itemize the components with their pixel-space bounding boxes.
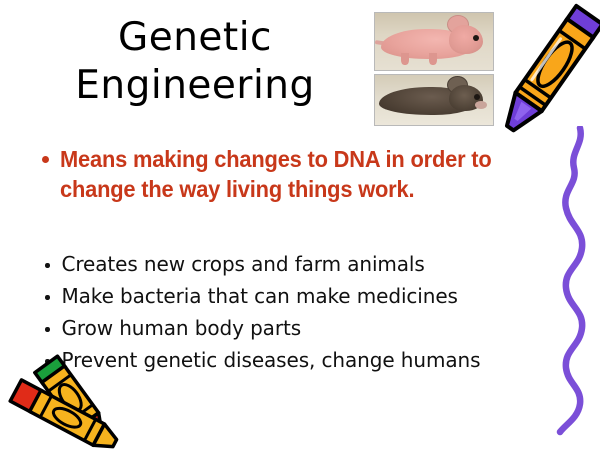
image-group-mice	[374, 12, 496, 126]
crayons-icon-bottom-left	[0, 352, 144, 450]
main-bullet-label: Means making changes to DNA in order to …	[60, 144, 527, 204]
bullet-dot-icon	[42, 156, 49, 163]
purple-squiggle-line	[540, 126, 600, 436]
page-title: Genetic Engineering	[30, 14, 360, 110]
bullet-dot-icon	[45, 263, 50, 268]
list-item-label: Grow human body parts	[62, 314, 302, 342]
bullet-dot-icon	[45, 295, 50, 300]
crayon-icon-top-right	[494, 0, 600, 146]
list-item: Creates new crops and farm animals	[45, 250, 545, 282]
main-bullet-item: Means making changes to DNA in order to …	[42, 144, 562, 204]
slide-canvas: Genetic Engineering Means making changes…	[0, 0, 600, 450]
dark-furry-mouse-photo	[374, 74, 494, 126]
hairless-pink-mouse-photo	[374, 12, 494, 71]
list-item-label: Creates new crops and farm animals	[62, 250, 425, 278]
bullet-dot-icon	[45, 327, 50, 332]
list-item: Grow human body parts	[45, 314, 545, 346]
list-item-label: Make bacteria that can make medicines	[62, 282, 458, 310]
list-item: Make bacteria that can make medicines	[45, 282, 545, 314]
